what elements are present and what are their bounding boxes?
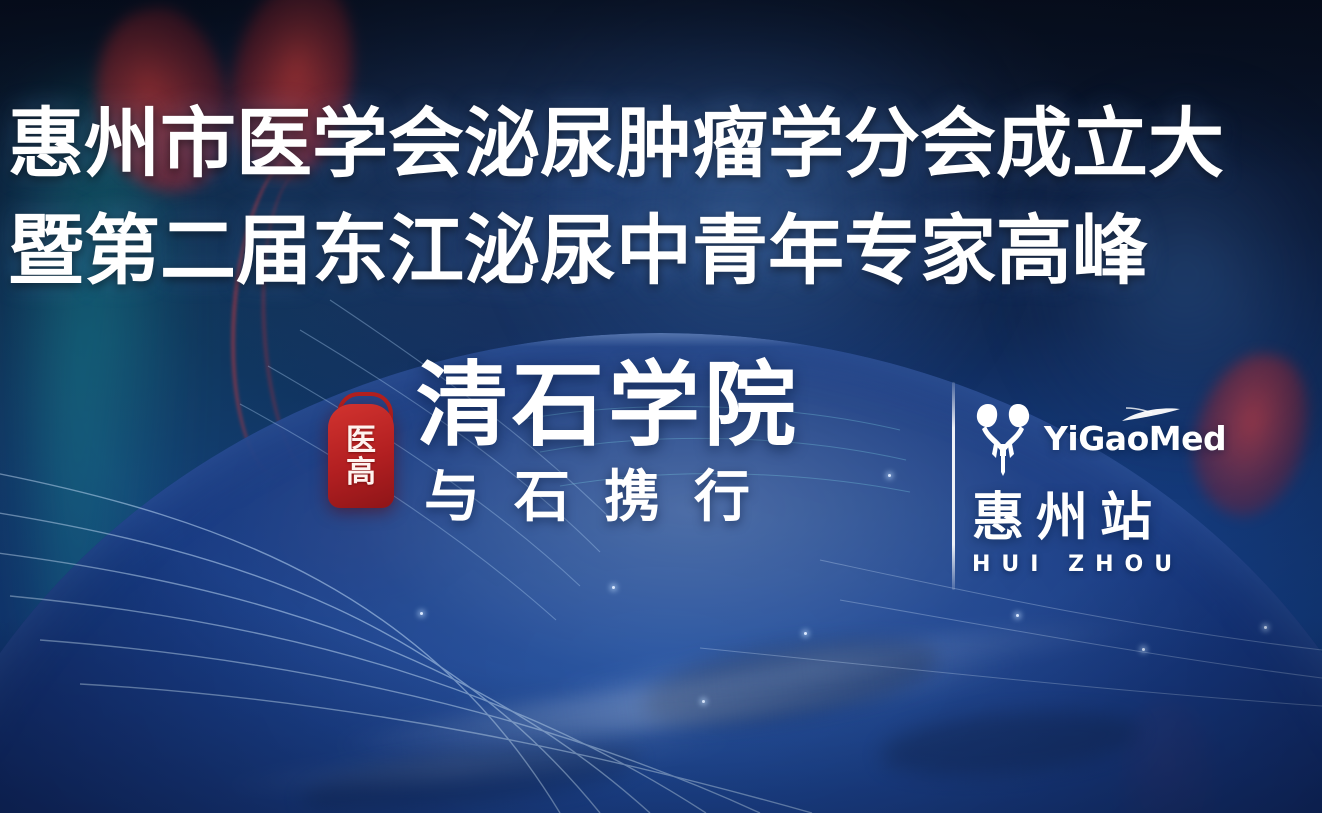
seal-char-top: 医 — [346, 426, 376, 456]
brand-name: YiGaoMed — [1044, 422, 1226, 455]
city-name-cn: 惠州站 — [972, 492, 1212, 544]
academy-slogan: 与石携行 — [416, 470, 800, 526]
sparkle-dot — [888, 474, 891, 477]
brand-block: YiGaoMed 惠州站 HUI ZHOU — [972, 400, 1212, 576]
brand-row: YiGaoMed — [972, 400, 1212, 476]
academy-text: 清石学院 与石携行 — [416, 360, 800, 526]
academy-name: 清石学院 — [416, 360, 800, 452]
academy-logo-block: 医 高 清石学院 与石携行 — [322, 360, 800, 526]
sparkle-dot — [1016, 614, 1019, 617]
kidney-mark-icon — [972, 400, 1034, 476]
conference-poster: 惠州市医学会泌尿肿瘤学分会成立大 暨第二届东江泌尿中青年专家高峰 医 高 清石学… — [0, 0, 1322, 813]
sparkle-dot — [420, 612, 423, 615]
sparkle-dot — [804, 632, 807, 635]
headline-line-1: 惠州市医学会泌尿肿瘤学分会成立大 — [8, 104, 1322, 185]
sparkle-dot — [612, 586, 615, 589]
headline-line-2: 暨第二届东江泌尿中青年专家高峰 — [8, 211, 1322, 292]
headline: 惠州市医学会泌尿肿瘤学分会成立大 暨第二届东江泌尿中青年专家高峰 — [8, 104, 1322, 291]
seal-characters: 医 高 — [328, 408, 394, 506]
city-name-en: HUI ZHOU — [972, 554, 1212, 576]
sparkle-dot — [1142, 648, 1145, 651]
vertical-divider — [952, 382, 955, 590]
seal-char-bottom: 高 — [346, 458, 376, 488]
sparkle-dot — [1264, 626, 1267, 629]
red-seal-icon: 医 高 — [322, 390, 400, 508]
sparkle-dot — [702, 700, 705, 703]
brand-swoosh-icon — [1120, 406, 1182, 424]
brand-name-text: YiGaoMed — [1044, 419, 1226, 458]
